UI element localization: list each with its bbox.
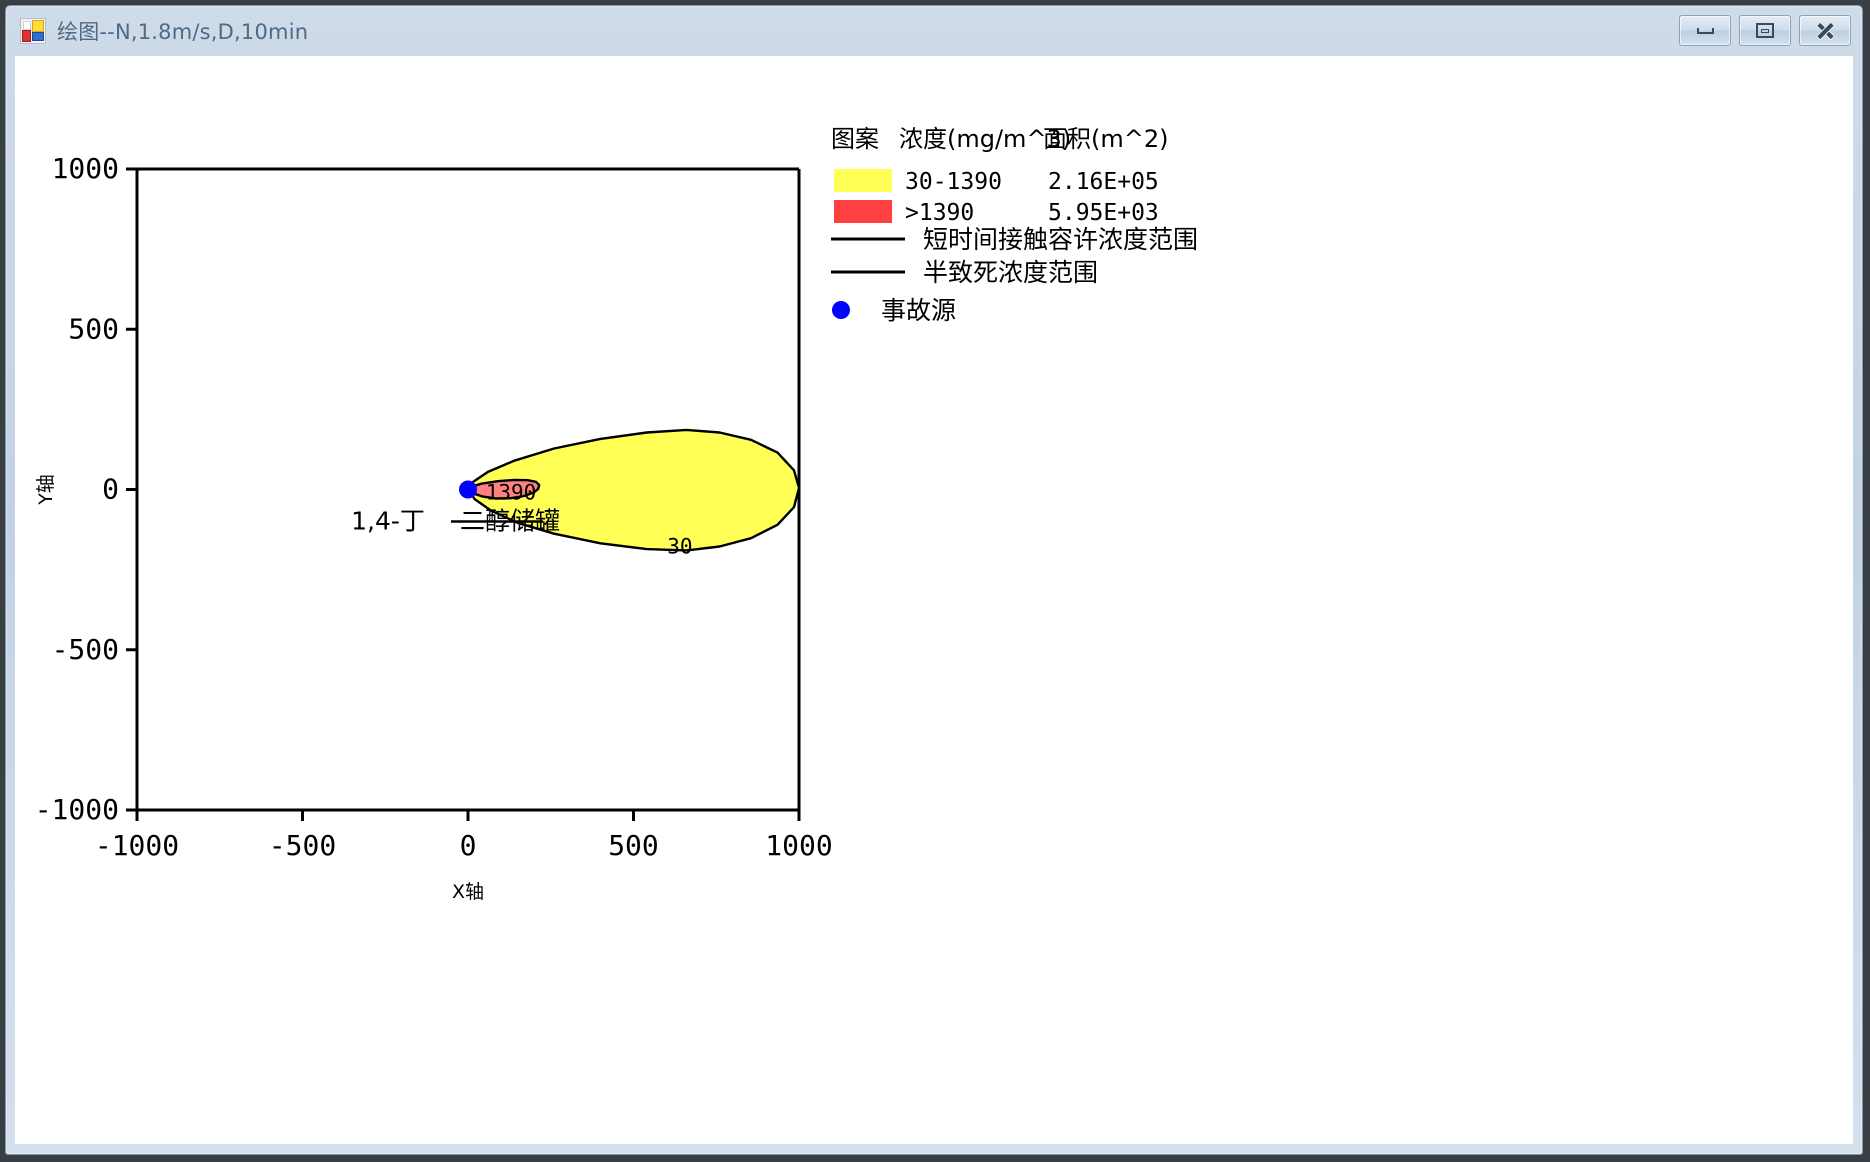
plot-element: 事故源	[881, 296, 956, 325]
plot-element: 1000	[52, 152, 119, 185]
plot-element	[459, 481, 477, 499]
plot-element: 5.95E+03	[1048, 200, 1159, 226]
plot-element: Y轴	[35, 474, 57, 506]
plot-element: 2.16E+05	[1048, 169, 1159, 195]
plot-element: 1390	[486, 481, 537, 505]
plot-element: 0	[460, 829, 477, 862]
plot-element: 30-1390	[905, 169, 1002, 195]
close-icon	[1816, 22, 1835, 39]
title-bar[interactable]: 绘图--N,1.8m/s,D,10min	[6, 6, 1862, 56]
plot-element	[834, 200, 892, 223]
plot-element: >1390	[905, 200, 974, 226]
plot-element	[832, 301, 850, 319]
plot-element: 面积(m^2)	[1043, 125, 1168, 153]
window-controls	[1679, 15, 1851, 46]
plot-element: 二醇储罐	[460, 507, 560, 536]
plot-element: 30	[667, 535, 692, 559]
plot-element	[834, 169, 892, 192]
maximize-icon	[1756, 23, 1774, 38]
plot-canvas: 10005000-500-1000-1000-50005001000X轴Y轴30…	[16, 57, 1852, 1143]
plot-element: 图案	[831, 125, 879, 153]
dispersion-contour-plot: 10005000-500-1000-1000-50005001000X轴Y轴30…	[16, 57, 1854, 1145]
plot-element: -500	[52, 633, 119, 666]
plot-element: 半致死浓度范围	[923, 258, 1098, 287]
plot-element: 1,4-丁	[351, 507, 425, 536]
plot-client-area: 10005000-500-1000-1000-50005001000X轴Y轴30…	[15, 56, 1853, 1144]
plot-window: 绘图--N,1.8m/s,D,10min 10005000-500-1000-1…	[5, 5, 1863, 1155]
plot-element: 0	[102, 473, 119, 506]
app-plot-icon	[20, 18, 46, 44]
plot-element: -500	[269, 829, 336, 862]
plot-element: -1000	[35, 793, 119, 826]
plot-element: 1000	[765, 829, 832, 862]
maximize-button[interactable]	[1739, 15, 1791, 46]
minimize-icon	[1697, 28, 1714, 34]
plot-element: 500	[68, 312, 119, 345]
minimize-button[interactable]	[1679, 15, 1731, 46]
plot-element: 500	[608, 829, 659, 862]
plot-element: -1000	[95, 829, 179, 862]
close-button[interactable]	[1799, 15, 1851, 46]
plot-element: X轴	[452, 881, 484, 903]
plot-element: 短时间接触容许浓度范围	[923, 225, 1198, 254]
window-title: 绘图--N,1.8m/s,D,10min	[57, 16, 308, 46]
